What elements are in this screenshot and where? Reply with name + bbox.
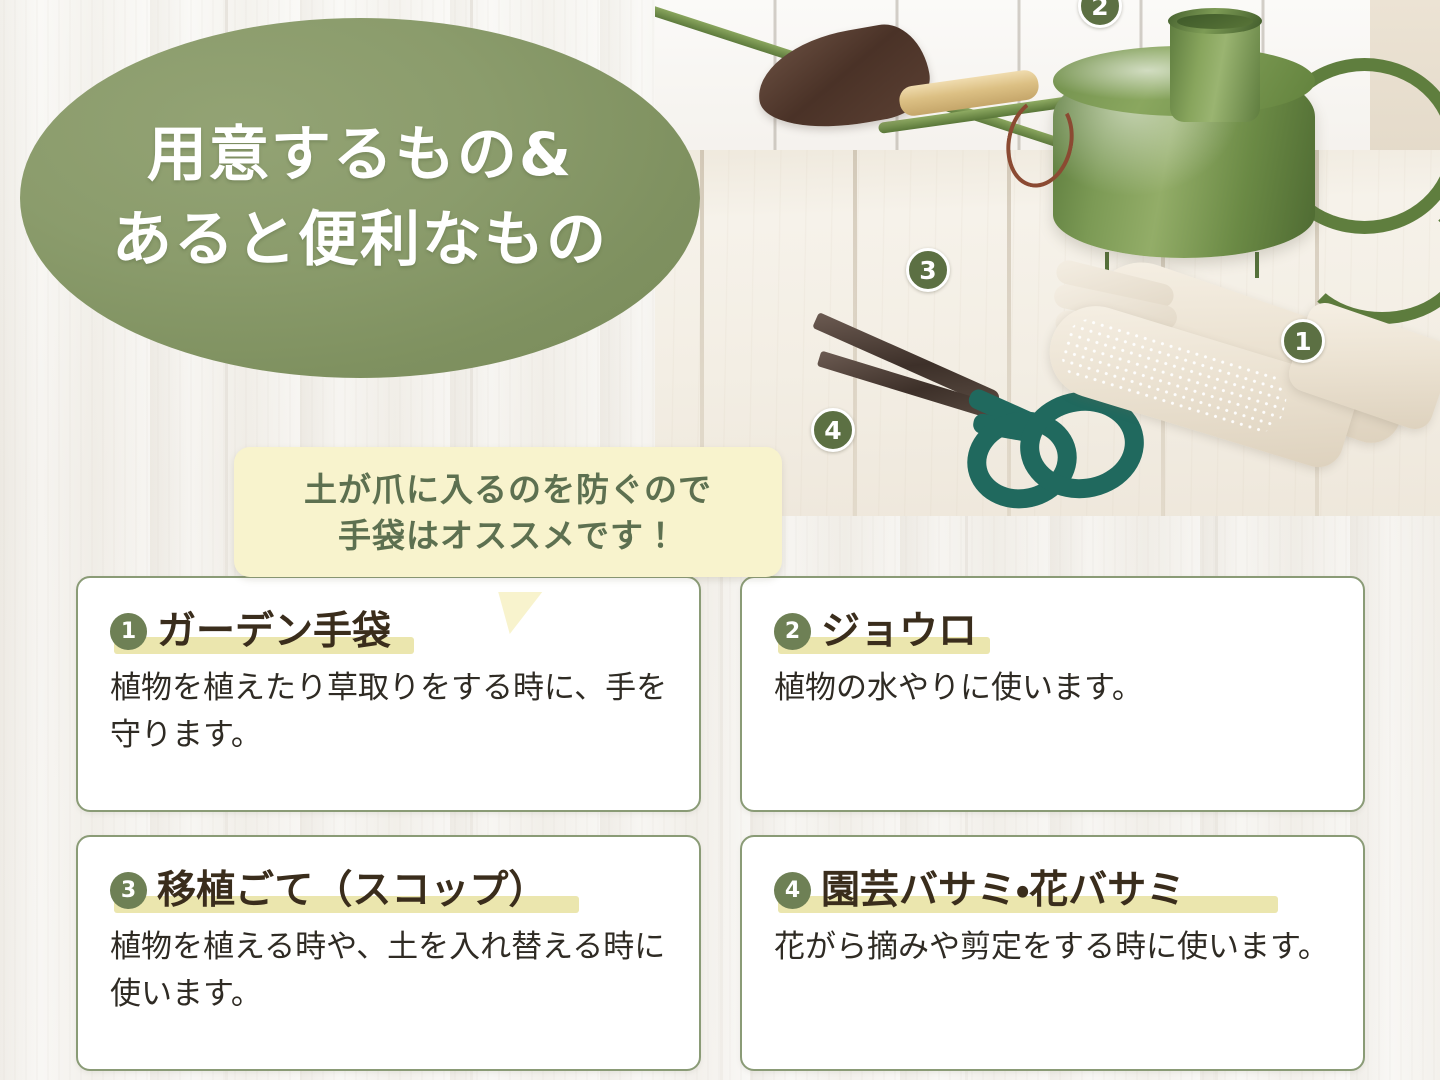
item-card-4-badge: 4	[774, 872, 811, 909]
page-title-line-1: 用意するもの&	[147, 113, 573, 198]
item-card-1-title: ガーデン手袋	[157, 612, 391, 651]
speech-bubble: 土が爪に入るのを防ぐので 手袋はオススメです！	[234, 447, 782, 577]
item-card-3: 3 移植ごて（スコップ） 植物を植える時や、土を入れ替える時に使います。	[76, 835, 701, 1071]
item-card-2-title: ジョウロ	[821, 612, 977, 651]
item-card-2-body: 植物の水やりに使います。	[774, 665, 1333, 712]
gardening-tools-photo: Bonheur le jardin mobile 2 3 1	[655, 0, 1440, 516]
item-card-grid: 1 ガーデン手袋 植物を植えたり草取りをする時に、手を守ります。 2 ジョウロ …	[76, 576, 1366, 1071]
item-card-3-header: 3 移植ごて（スコップ）	[110, 871, 669, 910]
speech-bubble-line-1: 土が爪に入るのを防ぐので	[244, 467, 772, 513]
item-card-2-badge: 2	[774, 613, 811, 650]
item-card-4-title: 園芸バサミ・花バサミ	[821, 871, 1185, 910]
item-card-1-body: 植物を植えたり草取りをする時に、手を守ります。	[110, 665, 669, 759]
item-card-1-header: 1 ガーデン手袋	[110, 612, 669, 651]
photo-badge-3: 3	[906, 248, 950, 292]
item-card-3-body: 植物を植える時や、土を入れ替える時に使います。	[110, 924, 669, 1018]
item-card-3-badge: 3	[110, 872, 147, 909]
watering-can-opening	[1168, 8, 1262, 34]
speech-bubble-line-2: 手袋はオススメです！	[244, 513, 772, 559]
page-title-line-2: あると便利なもの	[112, 198, 608, 283]
photo-badge-4: 4	[811, 408, 855, 452]
item-card-4-header: 4 園芸バサミ・花バサミ	[774, 871, 1333, 910]
item-card-3-title: 移植ごて（スコップ）	[157, 871, 547, 910]
item-card-2-header: 2 ジョウロ	[774, 612, 1333, 651]
item-card-1-badge: 1	[110, 613, 147, 650]
item-card-4-body: 花がら摘みや剪定をする時に使います。	[774, 924, 1333, 971]
photo-badge-1: 1	[1281, 319, 1325, 363]
item-card-4: 4 園芸バサミ・花バサミ 花がら摘みや剪定をする時に使います。	[740, 835, 1365, 1071]
page-title-blob: 用意するもの& あると便利なもの	[20, 18, 700, 378]
item-card-2: 2 ジョウロ 植物の水やりに使います。	[740, 576, 1365, 812]
item-card-1: 1 ガーデン手袋 植物を植えたり草取りをする時に、手を守ります。	[76, 576, 701, 812]
